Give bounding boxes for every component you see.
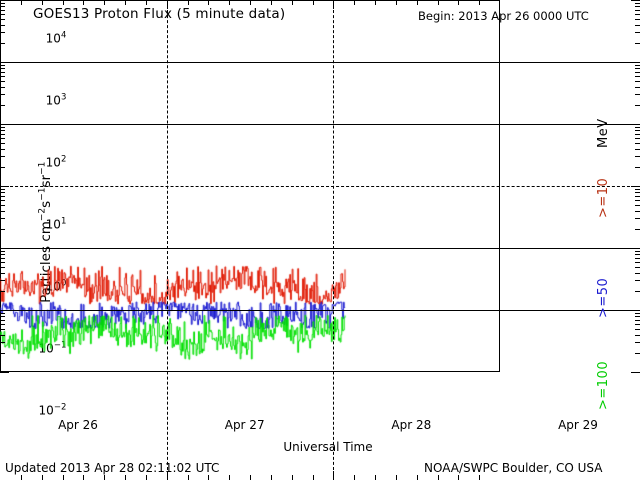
y-tick-minor: [635, 273, 640, 274]
y-tick-minor: [635, 262, 640, 263]
y-tick-minor: [635, 192, 640, 193]
y-tick-minor: [635, 189, 640, 190]
x-tick-label-apr-28: Apr 28: [391, 418, 431, 432]
y-tick-minor: [635, 329, 640, 330]
y-tick-minor: [0, 196, 5, 197]
y-tick-minor: [635, 68, 640, 69]
y-tick-minor: [0, 87, 5, 88]
day-boundary-2: [333, 0, 334, 480]
y-tick-minor: [0, 68, 5, 69]
y-tick-major: [631, 62, 640, 63]
x-tick-major-top: [333, 0, 334, 9]
x-tick-minor: [229, 475, 230, 480]
y-tick-major: [631, 310, 640, 311]
updated-timestamp: Updated 2013 Apr 28 02:11:02 UTC: [5, 461, 219, 475]
x-tick-minor: [21, 475, 22, 480]
y-tick-major: [631, 248, 640, 249]
y-tick-minor: [0, 335, 5, 336]
agency-credit: NOAA/SWPC Boulder, CO USA: [424, 461, 602, 475]
y-tick-minor: [635, 196, 640, 197]
y-tick-minor: [0, 65, 5, 66]
x-tick-minor: [250, 475, 251, 480]
y-tick-minor: [635, 94, 640, 95]
x-tick-minor: [417, 475, 418, 480]
y-tick-minor: [635, 205, 640, 206]
y-tick-minor: [635, 3, 640, 4]
y-tick-minor: [0, 19, 5, 20]
x-tick-minor-top: [208, 0, 209, 5]
y-tick-minor: [0, 156, 5, 157]
x-tick-minor-top: [146, 0, 147, 5]
x-tick-minor: [63, 475, 64, 480]
y-tick-minor: [0, 138, 5, 139]
x-tick-minor-top: [375, 0, 376, 5]
x-tick-minor-top: [271, 0, 272, 5]
y-tick-minor: [635, 156, 640, 157]
y-tick-major: [0, 62, 9, 63]
y-tick-minor: [0, 94, 5, 95]
y-tick-minor: [0, 353, 5, 354]
y-tick-minor: [0, 329, 5, 330]
y-tick-major: [0, 310, 9, 311]
y-tick-major: [631, 372, 640, 373]
y-tick-minor: [0, 127, 5, 128]
x-tick-minor: [458, 475, 459, 480]
legend-unit-mev: MeV: [596, 118, 611, 148]
y-tick-minor: [635, 267, 640, 268]
y-tick-major: [631, 0, 640, 1]
y-tick-minor: [0, 6, 5, 7]
x-tick-minor: [125, 475, 126, 480]
x-tick-minor-top: [42, 0, 43, 5]
y-tick-minor: [0, 189, 5, 190]
y-tick-minor: [635, 320, 640, 321]
y-tick-minor: [635, 25, 640, 26]
y-tick-minor: [0, 211, 5, 212]
y-tick-minor: [635, 130, 640, 131]
y-tick-minor: [635, 200, 640, 201]
y-tick-minor: [0, 32, 5, 33]
gridline-0.1: [0, 310, 640, 311]
x-tick-minor: [375, 475, 376, 480]
y-tick-minor: [0, 280, 5, 281]
y-tick-minor: [0, 130, 5, 131]
y-tick-minor: [635, 105, 640, 106]
y-tick-minor: [635, 313, 640, 314]
x-tick-minor: [479, 475, 480, 480]
y-tick-minor: [635, 218, 640, 219]
y-tick-minor: [635, 258, 640, 259]
y-tick-minor: [0, 134, 5, 135]
y-tick-minor: [635, 76, 640, 77]
x-tick-minor-top: [313, 0, 314, 5]
y-tick-minor: [0, 14, 5, 15]
x-tick-minor-top: [438, 0, 439, 5]
y-tick-minor: [0, 254, 5, 255]
x-tick-minor-top: [104, 0, 105, 5]
y-tick-major: [0, 124, 9, 125]
y-tick-minor: [635, 342, 640, 343]
x-tick-minor-top: [417, 0, 418, 5]
y-tick-minor: [635, 14, 640, 15]
y-tick-minor: [0, 320, 5, 321]
y-tick-minor: [635, 254, 640, 255]
x-tick-minor: [208, 475, 209, 480]
y-tick-minor: [635, 167, 640, 168]
y-tick-minor: [0, 105, 5, 106]
y-tick-minor: [635, 149, 640, 150]
y-tick-minor: [0, 10, 5, 11]
y-tick-minor: [0, 324, 5, 325]
day-boundary-1: [167, 0, 168, 480]
x-tick-minor: [438, 475, 439, 480]
y-tick-minor: [635, 211, 640, 212]
y-tick-minor: [635, 72, 640, 73]
y-tick-minor: [0, 258, 5, 259]
x-tick-minor: [292, 475, 293, 480]
y-tick-minor: [635, 324, 640, 325]
y-tick-minor: [0, 192, 5, 193]
y-tick-minor: [635, 32, 640, 33]
y-tick-major: [0, 186, 9, 187]
y-tick-minor: [0, 273, 5, 274]
x-tick-minor: [104, 475, 105, 480]
y-tick-minor: [0, 81, 5, 82]
y-tick-minor: [0, 205, 5, 206]
x-tick-minor-top: [250, 0, 251, 5]
x-axis-title: Universal Time: [78, 440, 578, 454]
y-tick-minor: [0, 3, 5, 4]
y-tick-minor: [0, 76, 5, 77]
legend-ge-100: >=100: [596, 361, 611, 410]
x-tick-minor: [146, 475, 147, 480]
y-tick-minor: [0, 229, 5, 230]
gridline-100: [0, 124, 640, 125]
x-tick-minor-top: [63, 0, 64, 5]
x-tick-minor-top: [292, 0, 293, 5]
y-tick-minor: [635, 138, 640, 139]
y-tick-minor: [635, 134, 640, 135]
x-tick-minor: [313, 475, 314, 480]
legend-ge-10: >=10: [596, 178, 611, 218]
y-tick-minor: [635, 65, 640, 66]
x-tick-minor: [354, 475, 355, 480]
y-tick-minor: [635, 335, 640, 336]
x-tick-minor-top: [21, 0, 22, 5]
y-tick-minor: [635, 81, 640, 82]
y-tick-minor: [635, 87, 640, 88]
y-tick-major: [0, 0, 9, 1]
legend-ge-50: >=50: [596, 278, 611, 318]
gridline-1000: [0, 62, 640, 63]
y-tick-minor: [0, 200, 5, 201]
y-tick-minor: [635, 229, 640, 230]
y-tick-minor: [635, 353, 640, 354]
y-tick-minor: [0, 342, 5, 343]
y-tick-minor: [635, 6, 640, 7]
y-tick-minor: [0, 267, 5, 268]
y-tick-minor: [0, 251, 5, 252]
y-tick-minor: [635, 19, 640, 20]
gridline-dashed-10: [0, 186, 640, 187]
y-tick-minor: [635, 143, 640, 144]
x-tick-minor-top: [83, 0, 84, 5]
y-tick-minor: [0, 72, 5, 73]
y-tick-minor: [635, 280, 640, 281]
y-tick-minor: [0, 291, 5, 292]
x-tick-minor: [42, 475, 43, 480]
y-tick-minor: [0, 167, 5, 168]
y-tick-major: [631, 124, 640, 125]
x-tick-minor-top: [479, 0, 480, 5]
y-tick-minor: [635, 127, 640, 128]
gridline-1: [0, 248, 640, 249]
x-tick-label-apr-26: Apr 26: [58, 418, 98, 432]
x-tick-minor: [396, 475, 397, 480]
y-tick-minor: [635, 10, 640, 11]
y-tick-minor: [0, 43, 5, 44]
x-tick-minor: [188, 475, 189, 480]
x-tick-major: [333, 471, 334, 480]
y-tick-minor: [635, 43, 640, 44]
x-tick-minor-top: [188, 0, 189, 5]
y-tick-major: [631, 186, 640, 187]
x-tick-minor-top: [229, 0, 230, 5]
y-tick-major: [0, 248, 9, 249]
x-tick-major-top: [167, 0, 168, 9]
y-tick-minor: [0, 316, 5, 317]
y-tick-minor: [635, 251, 640, 252]
y-tick-minor: [0, 218, 5, 219]
y-tick-minor: [635, 316, 640, 317]
x-tick-label-apr-27: Apr 27: [225, 418, 265, 432]
plot-clip: [0, 0, 640, 480]
y-tick-minor: [635, 291, 640, 292]
y-tick-minor: [0, 149, 5, 150]
x-tick-minor: [83, 475, 84, 480]
y-tick-minor: [0, 25, 5, 26]
y-tick-minor: [0, 262, 5, 263]
x-tick-minor-top: [458, 0, 459, 5]
y-tick-minor: [0, 143, 5, 144]
x-tick-label-apr-29: Apr 29: [558, 418, 598, 432]
x-tick-minor-top: [396, 0, 397, 5]
y-tick-minor: [0, 313, 5, 314]
x-tick-minor-top: [125, 0, 126, 5]
y-tick-major: [0, 372, 9, 373]
x-tick-minor: [271, 475, 272, 480]
x-tick-minor-top: [354, 0, 355, 5]
plot-area: [0, 0, 500, 372]
